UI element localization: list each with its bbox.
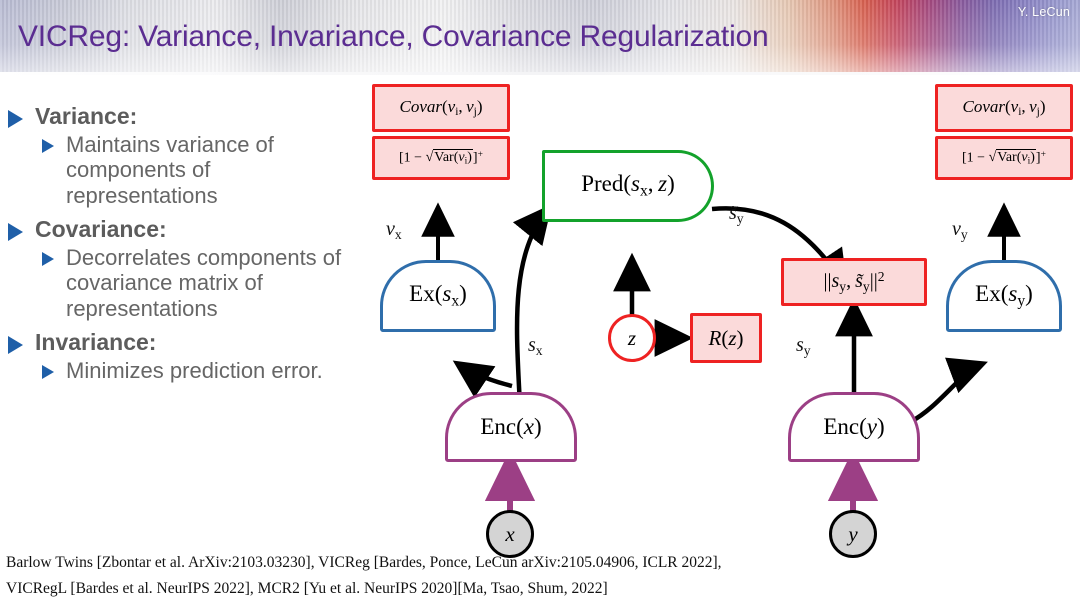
edge-label-sy-tilde: s̃y xyxy=(729,202,744,227)
node-ex-sy: Ex(sy) xyxy=(946,260,1062,332)
triangle-bullet-icon xyxy=(42,365,54,379)
node-encoder-x: Enc(x) xyxy=(445,392,577,462)
node-predictor-label: Pred(sx, z) xyxy=(581,171,675,200)
edge-label-sy: sy xyxy=(796,334,811,359)
node-covar-right: Covar(vi, vj) xyxy=(935,84,1073,132)
list-item-label: Invariance: xyxy=(35,330,156,356)
node-ex-sx-label: Ex(sx) xyxy=(409,281,467,310)
node-regularizer-rz: R(z) xyxy=(690,313,762,363)
node-encoder-y: Enc(y) xyxy=(788,392,920,462)
node-regularizer-rz-label: R(z) xyxy=(708,326,743,351)
node-input-x-label: x xyxy=(505,522,514,547)
node-variance-right-label: [1 − √Var(vi)]+ xyxy=(962,150,1046,167)
node-latent-z: z xyxy=(608,314,656,362)
list-item: Maintains variance of components of repr… xyxy=(42,132,368,209)
list-item-label: Decorrelates components of covariance ma… xyxy=(66,245,366,322)
edge-label-sx: sx xyxy=(528,334,543,359)
triangle-bullet-icon xyxy=(8,223,23,241)
reference-caption: Barlow Twins [Zbontar et al. ArXiv:2103.… xyxy=(6,550,1076,603)
node-loss: ||sy, s̃y||2 xyxy=(781,258,927,306)
node-variance-left-label: [1 − √Var(vi)]+ xyxy=(399,150,483,167)
triangle-bullet-icon xyxy=(8,110,23,128)
slide-header: Y. LeCun VICReg: Variance, Invariance, C… xyxy=(0,0,1080,72)
node-loss-label: ||sy, s̃y||2 xyxy=(823,269,884,295)
page-title: VICReg: Variance, Invariance, Covariance… xyxy=(18,20,769,54)
node-variance-right: [1 − √Var(vi)]+ xyxy=(935,136,1073,180)
list-item-label: Variance: xyxy=(35,104,137,130)
bullet-list: Variance: Maintains variance of componen… xyxy=(8,96,368,383)
edge-label-vy: vy xyxy=(952,218,968,243)
triangle-bullet-icon xyxy=(42,252,54,266)
node-encoder-x-label: Enc(x) xyxy=(480,414,541,440)
list-item: Minimizes prediction error. xyxy=(42,358,368,384)
triangle-bullet-icon xyxy=(42,139,54,153)
author-name: Y. LeCun xyxy=(1018,5,1070,19)
triangle-bullet-icon xyxy=(8,336,23,354)
edge-label-vx: vx xyxy=(386,218,402,243)
node-ex-sx: Ex(sx) xyxy=(380,260,496,332)
node-input-y-label: y xyxy=(848,522,857,547)
list-item-label: Covariance: xyxy=(35,217,167,243)
caption-line-1: Barlow Twins [Zbontar et al. ArXiv:2103.… xyxy=(6,550,1076,577)
list-item: Invariance: xyxy=(8,330,368,356)
caption-line-2: VICRegL [Bardes et al. NeurIPS 2022], MC… xyxy=(6,576,1076,603)
node-ex-sy-label: Ex(sy) xyxy=(975,281,1033,310)
header-divider xyxy=(0,72,1080,75)
list-item: Variance: xyxy=(8,104,368,130)
list-item-label: Minimizes prediction error. xyxy=(66,358,323,384)
node-latent-z-label: z xyxy=(628,326,636,351)
node-encoder-y-label: Enc(y) xyxy=(823,414,884,440)
node-covar-left: Covar(vi, vj) xyxy=(372,84,510,132)
node-covar-left-label: Covar(vi, vj) xyxy=(399,97,482,118)
list-item-label: Maintains variance of components of repr… xyxy=(66,132,366,209)
vicreg-architecture-diagram: Covar(vi, vj) [1 − √Var(vi)]+ Covar(vi, … xyxy=(360,76,1080,556)
list-item: Covariance: xyxy=(8,217,368,243)
node-covar-right-label: Covar(vi, vj) xyxy=(962,97,1045,118)
node-variance-left: [1 − √Var(vi)]+ xyxy=(372,136,510,180)
list-item: Decorrelates components of covariance ma… xyxy=(42,245,368,322)
node-predictor: Pred(sx, z) xyxy=(542,150,714,222)
